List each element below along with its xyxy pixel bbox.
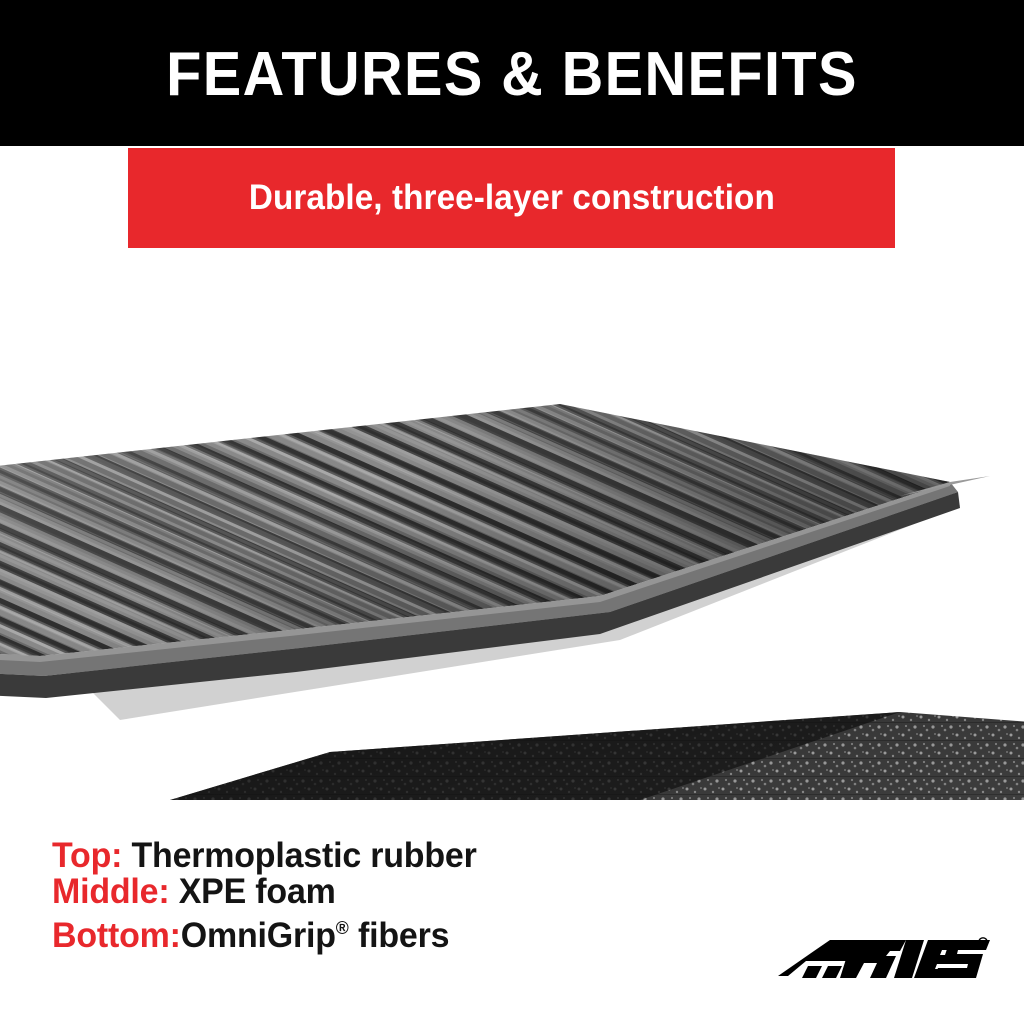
legend-value-top: Thermoplastic rubber — [131, 836, 476, 875]
product-layer-top — [0, 404, 990, 720]
aries-wordmark-icon: R — [778, 930, 990, 990]
registered-trademark-icon: ® — [336, 918, 349, 938]
subtitle-text: Durable, three-layer construction — [248, 180, 774, 217]
legend-value-bottom: OmniGrip — [181, 916, 336, 955]
product-image — [0, 300, 1024, 800]
product-illustration — [0, 300, 1024, 800]
legend-label-top: Top: — [52, 836, 122, 875]
legend-item-middle: Middle: XPE foam — [52, 874, 731, 910]
legend-value-bottom-suffix: fibers — [349, 916, 450, 955]
page-title: FEATURES & BENEFITS — [36, 0, 988, 146]
legend-value-middle: XPE foam — [179, 872, 336, 911]
legend: Top: Thermoplastic rubber Middle: XPE fo… — [52, 838, 752, 954]
marketing-infographic: FEATURES & BENEFITS Durable, three-layer… — [0, 0, 1024, 1024]
legend-item-top: Top: Thermoplastic rubber — [52, 838, 731, 874]
aries-logo: R — [778, 930, 990, 990]
legend-label-middle: Middle: — [52, 872, 169, 911]
product-layer-middle — [0, 712, 1024, 800]
svg-text:R: R — [981, 941, 986, 947]
subtitle-band: Durable, three-layer construction — [128, 148, 895, 248]
legend-label-bottom: Bottom: — [52, 916, 181, 955]
legend-item-bottom: Bottom:OmniGrip® fibers — [52, 910, 731, 954]
